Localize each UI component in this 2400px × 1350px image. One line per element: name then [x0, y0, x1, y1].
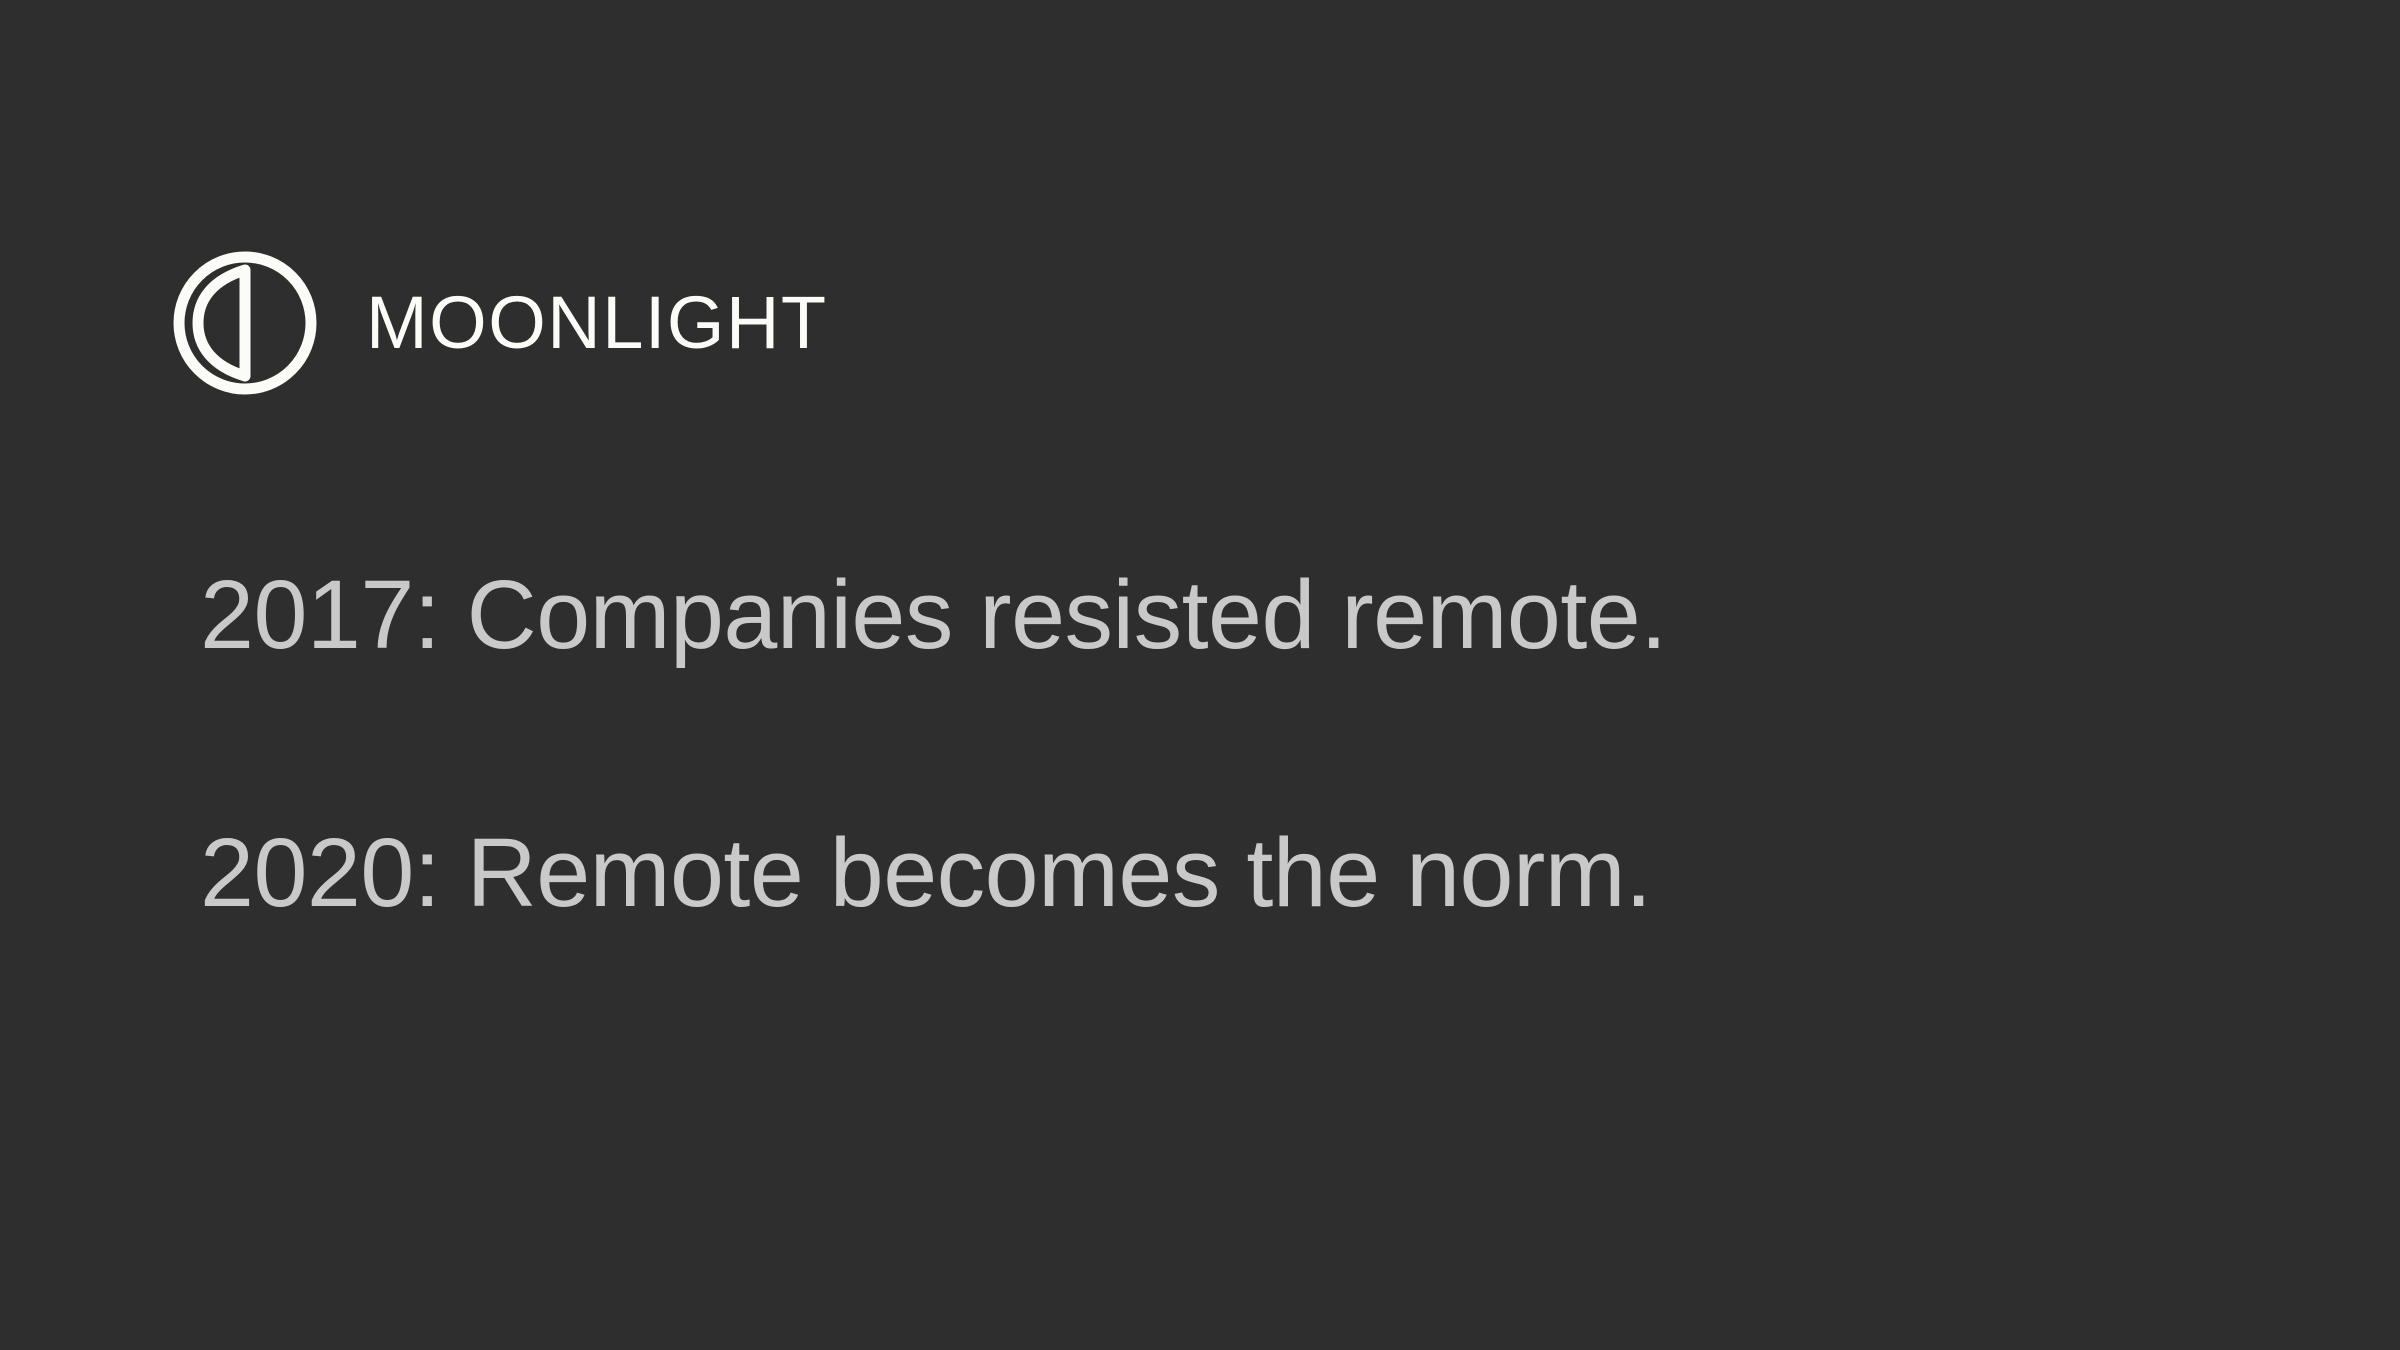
slide-canvas: MOONLIGHT 2017: Companies resisted remot… — [0, 0, 2400, 1350]
copy-line-2017: 2017: Companies resisted remote. — [200, 566, 2100, 663]
body-copy: 2017: Companies resisted remote. 2020: R… — [200, 566, 2100, 921]
copy-line-2020: 2020: Remote becomes the norm. — [200, 824, 2100, 921]
moonlight-crescent-circle-icon — [172, 250, 318, 396]
brand-lockup: MOONLIGHT — [172, 250, 828, 396]
brand-name: MOONLIGHT — [366, 286, 828, 360]
